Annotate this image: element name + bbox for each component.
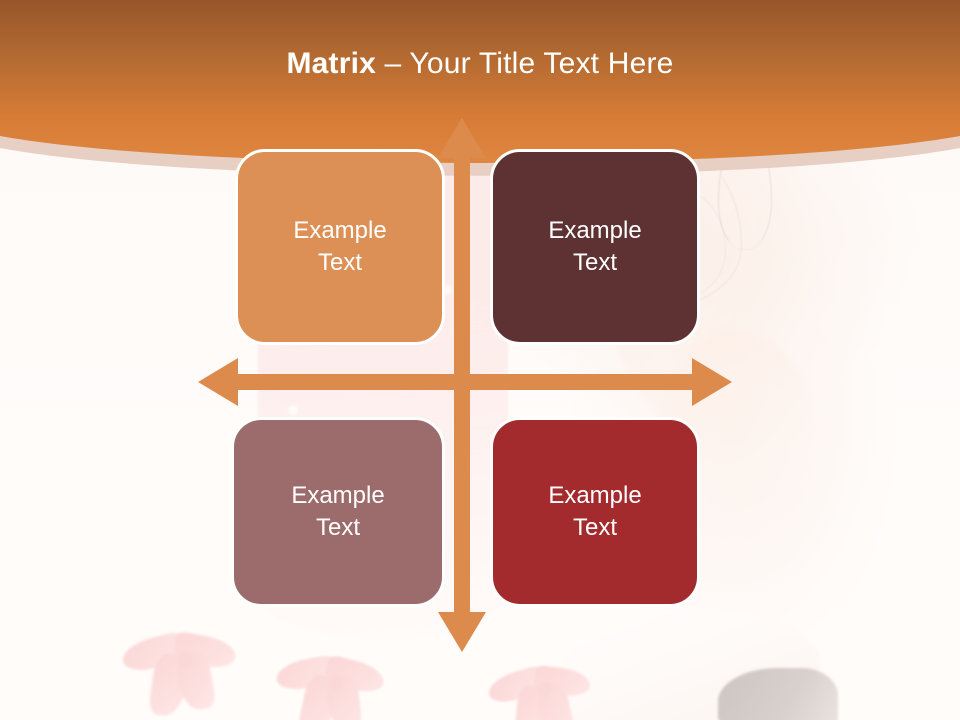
quadrant-box-bottom-right[interactable]: Example Text (490, 417, 700, 607)
slide: Matrix – Your Title Text Here Example Te… (0, 0, 960, 720)
quadrant-box-bottom-left[interactable]: Example Text (231, 417, 445, 607)
matrix-axes (0, 0, 960, 720)
quadrant-box-top-right[interactable]: Example Text (490, 149, 700, 345)
quadrant-box-top-left[interactable]: Example Text (235, 149, 445, 345)
